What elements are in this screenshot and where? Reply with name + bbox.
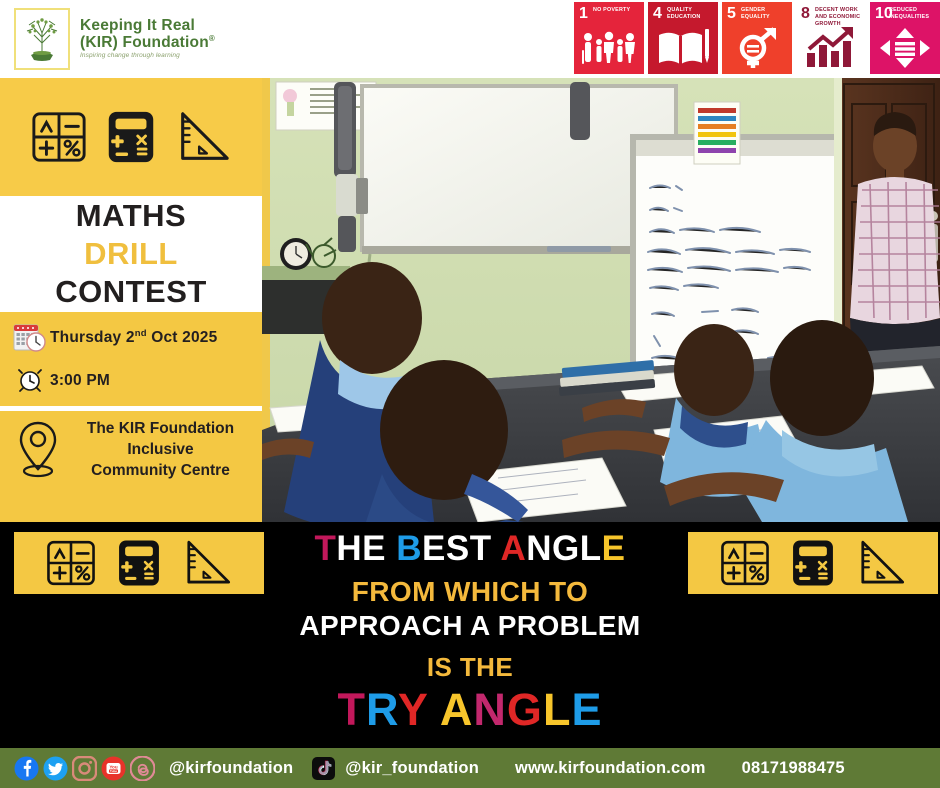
instagram-icon[interactable] (72, 756, 97, 781)
sdg-goal-number: 1 (579, 6, 588, 22)
slogan-part-8: E (571, 684, 602, 735)
venue-address: The KIR Foundation Inclusive Community C… (68, 419, 253, 482)
sdg-goal-10: 10Reduced Inequalities (870, 2, 940, 74)
calculator-icon (102, 108, 160, 166)
sdg-goal-title: Gender Equality (741, 7, 789, 21)
slogan-line-1: THE BEST ANGLE (0, 530, 940, 567)
venue-line-1: The KIR Foundation (68, 419, 253, 440)
slogan-part-7: L (543, 684, 572, 735)
slogan-part-0: T (314, 529, 336, 568)
slogan-part-4: A (440, 684, 474, 735)
event-info-panel: MATHS DRILL CONTEST (0, 78, 262, 522)
venue-line-3: Community Centre (68, 461, 253, 482)
sdg-goal-title: Quality Education (667, 7, 715, 21)
slogan-part-5: N (473, 684, 507, 735)
classroom-photo (262, 78, 940, 522)
slogan-part-4: A (501, 529, 527, 568)
event-date: Thursday 2nd Oct 2025 (50, 328, 217, 347)
svg-text:Tube: Tube (110, 769, 117, 773)
slogan-part-5: NGL (526, 529, 601, 568)
website-url[interactable]: www.kirfoundation.com (515, 759, 706, 778)
slogan-part-2: Y (398, 684, 428, 735)
sdg-goal-1: 1No Poverty (574, 2, 644, 74)
sdg-decent-work-icon (796, 26, 866, 70)
logo-text: Keeping It Real (KIR) Foundation® Inspir… (80, 18, 215, 60)
venue-row: The KIR Foundation Inclusive Community C… (0, 411, 262, 492)
math-icon-strip (0, 78, 262, 196)
map-pin-icon (8, 419, 68, 481)
social-icon-row: You Tube @kirfoundation (0, 756, 293, 781)
tiktok-handle[interactable]: @kir_foundation (345, 759, 479, 778)
slogan-part-6: G (507, 684, 543, 735)
header-bar: Keeping It Real (KIR) Foundation® Inspir… (0, 0, 940, 78)
sdg-goal-title: Decent Work and Economic Growth (815, 7, 863, 27)
slogan-part-0: T (338, 684, 367, 735)
sdg-goal-number: 8 (801, 6, 810, 22)
sdg-goal-4: 4Quality Education (648, 2, 718, 74)
sdg-reduced-inequalities-icon (870, 26, 940, 70)
slogan-part-3: EST (422, 529, 501, 568)
event-details: Thursday 2nd Oct 2025 3:00 PM (0, 312, 262, 492)
event-title: MATHS DRILL CONTEST (0, 196, 262, 312)
tree-logo-icon (21, 15, 63, 63)
sdg-goal-title: No Poverty (593, 7, 641, 14)
logo-line-1: Keeping It Real (80, 18, 215, 34)
facebook-icon[interactable] (14, 756, 39, 781)
logo-badge (14, 8, 70, 70)
sdg-goal-8: 8Decent Work and Economic Growth (796, 2, 866, 74)
venue-line-2: Inclusive (68, 440, 253, 461)
sdg-gender-equality-icon (722, 26, 792, 70)
slogan-part-3 (428, 684, 440, 735)
threads-icon[interactable] (130, 756, 155, 781)
slogan-section: THE BEST ANGLE FROM WHICH TO APPROACH A … (0, 522, 940, 748)
tiktok-icon[interactable] (311, 756, 336, 781)
slogan-part-1: R (366, 684, 398, 735)
slogan-line-2: FROM WHICH TO (0, 575, 940, 609)
sdg-goal-5: 5Gender Equality (722, 2, 792, 74)
slogan-text: THE BEST ANGLE FROM WHICH TO APPROACH A … (0, 530, 940, 735)
social-handle[interactable]: @kirfoundation (169, 759, 293, 778)
classroom-photo-illustration (262, 78, 940, 522)
footer-bar: You Tube @kirfoundation @kir_foundation … (0, 748, 940, 788)
title-line-drill: DRILL (84, 235, 178, 273)
sdg-goal-row: 1No Poverty4Quality Education5Gender Equ… (570, 2, 940, 76)
twitter-icon[interactable] (43, 756, 68, 781)
logo: Keeping It Real (KIR) Foundation® Inspir… (0, 8, 215, 70)
sdg-goal-number: 4 (653, 6, 662, 22)
poster: Keeping It Real (KIR) Foundation® Inspir… (0, 0, 940, 788)
sdg-no-poverty-icon (574, 26, 644, 70)
slogan-line-5: TRY ANGLE (0, 685, 940, 735)
title-line-contest: CONTEST (55, 273, 207, 311)
date-row: Thursday 2nd Oct 2025 (0, 316, 262, 360)
time-row: 3:00 PM (0, 360, 262, 402)
slogan-part-1: HE (336, 529, 396, 568)
set-square-ruler-icon (174, 108, 232, 166)
slogan-line-3: APPROACH A PROBLEM (0, 609, 940, 643)
registered-mark: ® (209, 34, 215, 43)
sdg-quality-education-icon (648, 26, 718, 70)
youtube-icon[interactable]: You Tube (101, 756, 126, 781)
math-operators-icon (30, 108, 88, 166)
phone-number[interactable]: 08171988475 (742, 759, 845, 778)
slogan-part-2: B (396, 529, 422, 568)
event-time: 3:00 PM (50, 372, 110, 390)
logo-line-2: (KIR) Foundation (80, 34, 209, 51)
title-line-maths: MATHS (76, 197, 186, 235)
alarm-clock-icon (10, 366, 50, 396)
sdg-goal-number: 5 (727, 6, 736, 22)
slogan-part-6: E (602, 529, 626, 568)
slogan-line-4: IS THE (0, 651, 940, 684)
calendar-clock-icon (10, 322, 50, 354)
logo-tagline: Inspiring change through learning (80, 53, 215, 60)
sdg-goal-title: Reduced Inequalities (889, 7, 937, 21)
tiktok-group: @kir_foundation (311, 756, 479, 781)
